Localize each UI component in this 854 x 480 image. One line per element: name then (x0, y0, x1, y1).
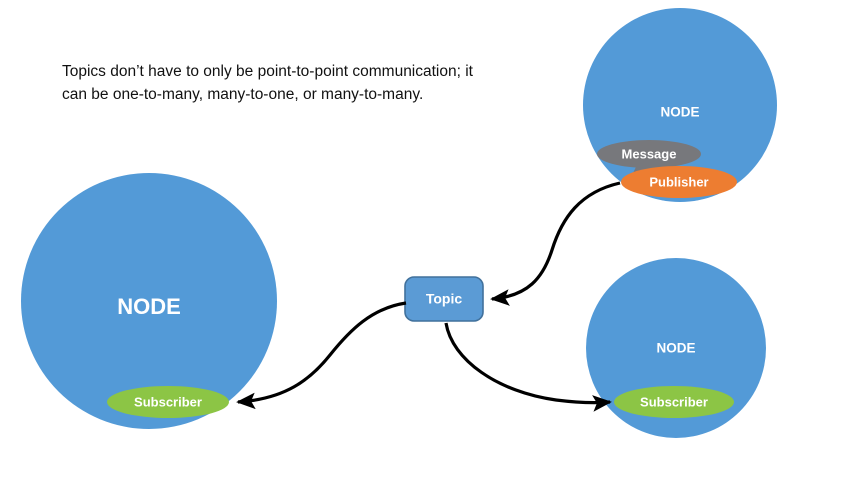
ros-topic-diagram: NODE Subscriber NODE Message Publisher N… (0, 0, 854, 480)
node-bottom-right-label: NODE (656, 341, 695, 356)
node-bottom-right[interactable]: NODE Subscriber (586, 258, 766, 438)
publisher-label: Publisher (649, 174, 708, 189)
node-top-right[interactable]: NODE Message Publisher (583, 8, 777, 202)
message-label: Message (622, 146, 677, 161)
topic-box[interactable]: Topic (405, 277, 483, 321)
node-left[interactable]: NODE Subscriber (21, 173, 277, 429)
subscriber-left-label: Subscriber (134, 394, 202, 409)
node-left-label: NODE (117, 294, 181, 319)
subscriber-bottom-right-label: Subscriber (640, 394, 708, 409)
topic-label: Topic (426, 291, 463, 307)
node-top-right-label: NODE (660, 105, 699, 120)
arrow-topic-to-bottom-right-subscriber (446, 323, 610, 403)
arrow-publisher-to-topic (492, 183, 620, 299)
diagram-canvas: Topics don’t have to only be point-to-po… (0, 0, 854, 480)
